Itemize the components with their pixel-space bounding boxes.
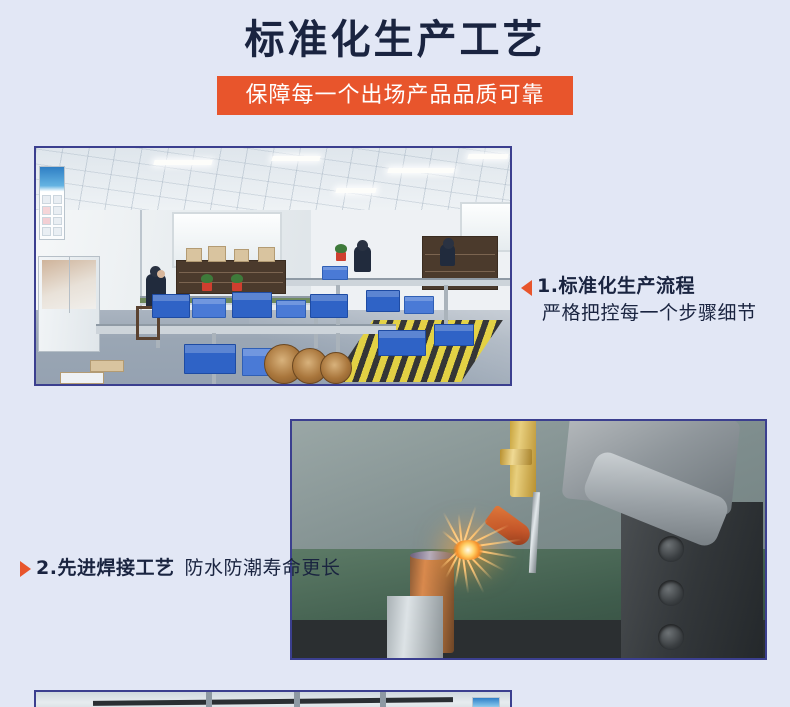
fixture-hole bbox=[658, 624, 684, 650]
blue-crate bbox=[184, 344, 236, 374]
fixture-hole bbox=[658, 580, 684, 606]
welding-scene bbox=[292, 421, 765, 658]
carton-box bbox=[234, 249, 249, 262]
blue-crate bbox=[232, 292, 272, 318]
frame-post bbox=[294, 692, 300, 707]
white-pallet bbox=[60, 372, 104, 384]
workbench bbox=[286, 278, 512, 286]
triangle-right-icon bbox=[20, 561, 31, 577]
subtitle-text: 保障每一个出场产品品质可靠 bbox=[245, 76, 544, 115]
cabinet-glass-door bbox=[42, 260, 96, 309]
page-title: 标准化生产工艺 bbox=[0, 14, 790, 66]
subtitle-banner: 保障每一个出场产品品质可靠 bbox=[217, 76, 573, 115]
bench-leg bbox=[444, 285, 448, 325]
ceiling-light bbox=[271, 156, 320, 161]
ceiling-light bbox=[387, 168, 454, 173]
carton-box bbox=[208, 246, 226, 262]
welding-process-photo bbox=[290, 419, 767, 660]
workshop-scene bbox=[36, 148, 510, 384]
worker-face bbox=[157, 270, 165, 278]
feature-2-description: 防水防潮寿命更长 bbox=[180, 557, 341, 579]
white-cabinet bbox=[38, 256, 100, 352]
feature-2-title: 2.先进焊接工艺 bbox=[36, 557, 174, 579]
blue-crate bbox=[192, 298, 226, 318]
poster-cells bbox=[42, 195, 62, 236]
blue-wall-sign bbox=[472, 697, 500, 707]
dark-rail bbox=[93, 697, 453, 706]
potted-plant bbox=[232, 282, 242, 291]
blue-crate bbox=[152, 294, 190, 318]
feature-2-text: 2.先进焊接工艺 防水防潮寿命更长 bbox=[36, 554, 341, 582]
brass-torch-collar bbox=[500, 449, 532, 465]
blue-crate bbox=[378, 330, 426, 356]
weld-arc-flash bbox=[453, 540, 483, 560]
ceiling-light bbox=[153, 160, 212, 165]
cable-spool bbox=[320, 352, 352, 384]
potted-plant bbox=[202, 282, 212, 291]
triangle-left-icon bbox=[521, 280, 532, 296]
wall-poster bbox=[39, 166, 65, 240]
carton-box bbox=[90, 360, 124, 372]
ceiling-light bbox=[467, 154, 508, 159]
carton-box bbox=[258, 247, 275, 262]
blue-crate bbox=[276, 300, 306, 318]
blue-crate bbox=[404, 296, 434, 314]
carton-box bbox=[186, 248, 202, 262]
feature-1-text: 1.标准化生产流程 严格把控每一个步骤细节 bbox=[537, 273, 790, 327]
third-photo-scene bbox=[36, 692, 510, 707]
potted-plant bbox=[336, 252, 346, 261]
frame-post bbox=[380, 692, 386, 707]
feature-2-callout: 2.先进焊接工艺 防水防潮寿命更长 bbox=[20, 554, 341, 582]
blue-crate bbox=[434, 324, 474, 346]
frame-post bbox=[206, 692, 212, 707]
third-photo-partial bbox=[34, 690, 512, 707]
ceiling-light bbox=[335, 188, 376, 193]
blue-crate bbox=[366, 290, 400, 312]
workshop-assembly-line-photo bbox=[34, 146, 512, 386]
feature-1-description: 严格把控每一个步骤细节 bbox=[537, 302, 757, 324]
feature-1-callout: 1.标准化生产流程 严格把控每一个步骤细节 bbox=[521, 273, 790, 327]
metal-clamp bbox=[387, 596, 443, 658]
blue-crate bbox=[322, 266, 348, 280]
worker-head bbox=[443, 238, 454, 249]
page-header: 标准化生产工艺 保障每一个出场产品品质可靠 bbox=[0, 0, 790, 115]
worker-head bbox=[357, 240, 368, 251]
fixture-hole bbox=[658, 536, 684, 562]
blue-crate bbox=[310, 294, 348, 318]
feature-1-title: 1.标准化生产流程 bbox=[537, 275, 695, 297]
